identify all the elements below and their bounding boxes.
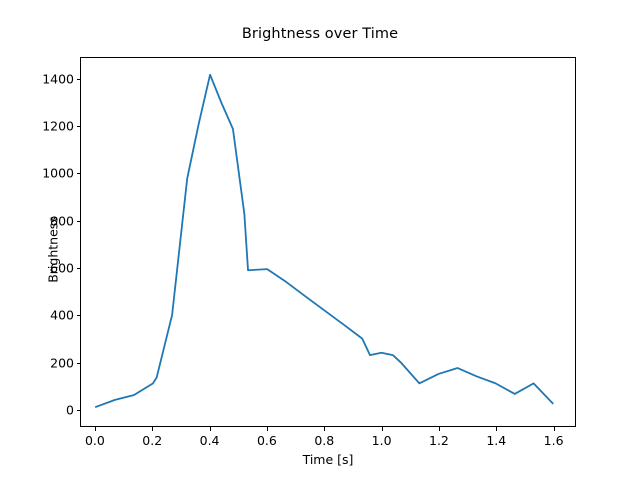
y-axis-label: Brightness: [46, 190, 61, 310]
y-tick-label: 1200: [14, 118, 74, 133]
x-tick-mark: [210, 427, 211, 431]
chart-figure: Brightness over Time 0200400600800100012…: [0, 0, 640, 480]
x-tick-label: 0.4: [180, 433, 240, 448]
x-tick-label: 1.4: [466, 433, 526, 448]
y-tick-label: 400: [14, 308, 74, 323]
plot-area: [80, 57, 576, 427]
x-tick-mark: [439, 427, 440, 431]
y-tick-label: 1000: [14, 166, 74, 181]
y-tick-label: 1400: [14, 71, 74, 86]
x-tick-label: 1.6: [524, 433, 584, 448]
y-tick-label: 0: [14, 403, 74, 418]
page-title: Brightness over Time: [0, 26, 640, 42]
x-tick-label: 0.6: [237, 433, 297, 448]
x-tick-mark: [554, 427, 555, 431]
x-tick-label: 0.8: [294, 433, 354, 448]
x-tick-label: 1.0: [352, 433, 412, 448]
x-tick-mark: [496, 427, 497, 431]
y-tick-label: 600: [14, 261, 74, 276]
brightness-line: [96, 75, 553, 407]
x-tick-mark: [152, 427, 153, 431]
y-tick-label: 800: [14, 213, 74, 228]
x-tick-label: 0.0: [65, 433, 125, 448]
x-tick-label: 0.2: [122, 433, 182, 448]
x-tick-mark: [324, 427, 325, 431]
y-tick-label: 200: [14, 355, 74, 370]
x-tick-label: 1.2: [409, 433, 469, 448]
x-tick-mark: [95, 427, 96, 431]
x-tick-mark: [382, 427, 383, 431]
line-series-svg: [81, 58, 575, 426]
x-axis-label: Time [s]: [80, 452, 576, 467]
x-tick-mark: [267, 427, 268, 431]
